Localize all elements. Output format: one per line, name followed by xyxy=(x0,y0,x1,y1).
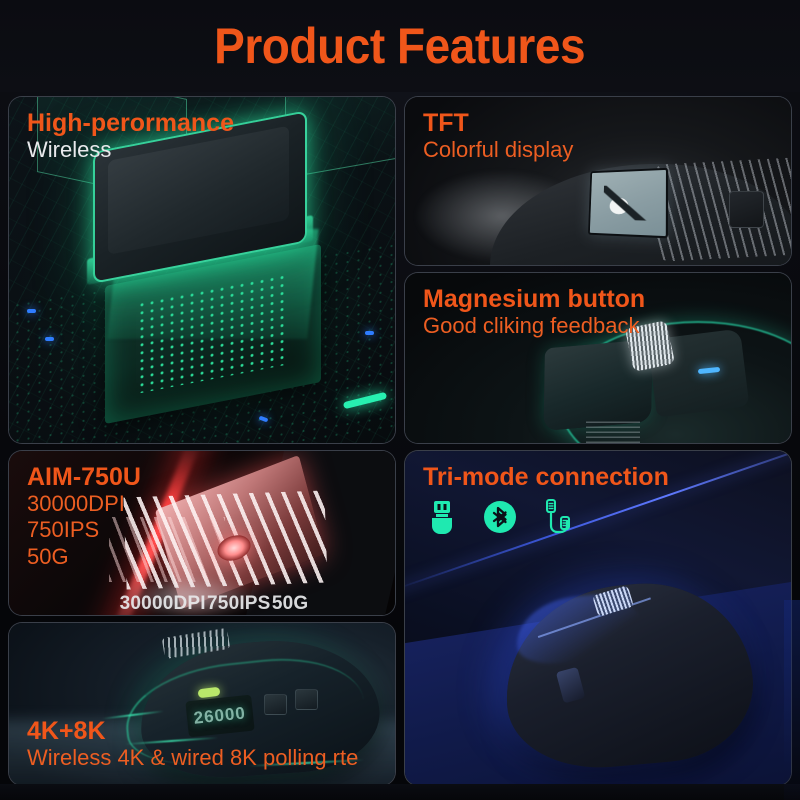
bottom-strip xyxy=(0,784,800,800)
headline-polling-rate: 4K+8K xyxy=(27,717,358,745)
mouse-side-button xyxy=(729,191,764,228)
panel-copy-high-performance: High-perormance Wireless xyxy=(27,109,234,163)
overlay-spec-dpi: 30000DPI xyxy=(120,593,206,615)
tft-screen xyxy=(588,168,668,239)
spec-acceleration: 50G xyxy=(27,544,141,570)
mouse-side-button-2 xyxy=(295,689,318,710)
panel-copy-magnesium: Magnesium button Good cliking feedback xyxy=(423,285,645,339)
mouse-side-grooves xyxy=(650,157,791,262)
headline-high-performance: High-perormance xyxy=(27,109,234,137)
tft-screen-graphic xyxy=(603,185,652,221)
overlay-spec-strip: 30000DPI 750IPS 50G xyxy=(9,593,395,615)
right-edge-glow xyxy=(784,600,800,800)
headline-aim-750u: AIM-750U xyxy=(27,463,141,491)
page-title-bar: Product Features xyxy=(0,0,800,92)
subline-tft: Colorful display xyxy=(423,137,573,163)
headline-tft: TFT xyxy=(423,109,573,137)
tri-mode-icon-row xyxy=(427,499,573,535)
feature-panel-high-performance[interactable]: High-perormance Wireless xyxy=(8,96,396,444)
panel-copy-polling-rate: 4K+8K Wireless 4K & wired 8K polling rte xyxy=(27,717,358,771)
product-features-infographic: Product Features High-perormance Wireles xyxy=(0,0,800,800)
headline-tri-mode: Tri-mode connection xyxy=(423,463,669,491)
feature-panel-aim-750u[interactable]: 30000DPI 750IPS 50G AIM-750U 30000DPI 75… xyxy=(8,450,396,616)
subline-high-performance: Wireless xyxy=(27,137,234,163)
usb-cable-icon xyxy=(543,499,573,535)
spec-dpi: 30000DPI xyxy=(27,491,141,517)
headline-magnesium-button: Magnesium button xyxy=(423,285,645,313)
feature-panel-polling-rate[interactable]: 26000 4K+8K Wireless 4K & wired 8K polli… xyxy=(8,622,396,786)
subline-polling-rate: Wireless 4K & wired 8K polling rte xyxy=(27,745,358,771)
feature-panel-tri-mode[interactable]: Tri-mode connection xyxy=(404,450,792,786)
panel-copy-tft: TFT Colorful display xyxy=(423,109,573,163)
overlay-spec-ips: 750IPS xyxy=(207,593,271,615)
mouse-side-button-1 xyxy=(264,694,287,715)
panel-copy-tri-mode: Tri-mode connection xyxy=(423,463,669,491)
bluetooth-icon xyxy=(483,500,517,534)
blue-spark-1 xyxy=(45,337,54,341)
subline-magnesium-button: Good cliking feedback xyxy=(423,313,645,339)
mouse-grill xyxy=(586,419,640,443)
spec-ips: 750IPS xyxy=(27,517,141,543)
feature-panel-tft[interactable]: TFT Colorful display xyxy=(404,96,792,266)
page-title: Product Features xyxy=(215,21,586,71)
blue-spark-2 xyxy=(27,309,36,313)
mouse-side-button xyxy=(557,667,587,704)
overlay-spec-g: 50G xyxy=(272,593,309,615)
panel-copy-aim: AIM-750U 30000DPI 750IPS 50G xyxy=(27,463,141,570)
feature-panel-magnesium-button[interactable]: Magnesium button Good cliking feedback xyxy=(404,272,792,444)
usb-dongle-icon xyxy=(427,500,457,534)
blue-spark-3 xyxy=(365,331,374,335)
